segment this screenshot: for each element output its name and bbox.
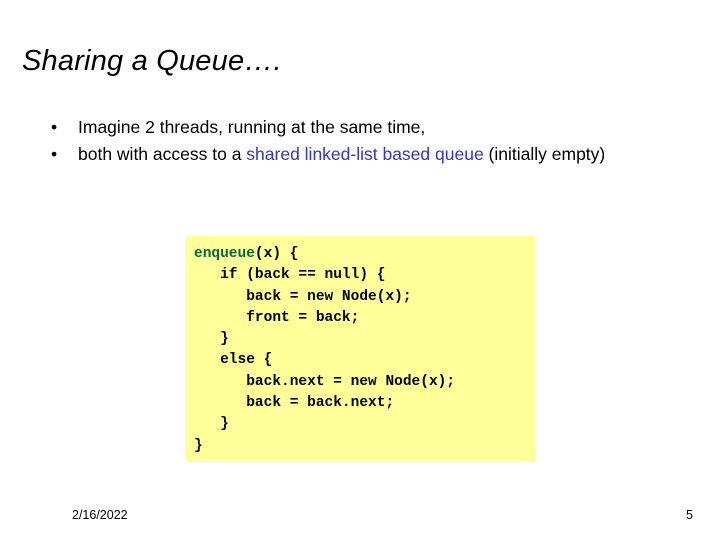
code-line: back = new Node(x); xyxy=(194,287,535,308)
code-indent xyxy=(194,331,220,347)
code-keyword: enqueue xyxy=(194,246,255,262)
bullet-point-icon: • xyxy=(48,141,78,168)
code-line: front = back; xyxy=(194,308,535,329)
code-indent xyxy=(194,416,220,432)
code-text: front = back; xyxy=(246,310,359,326)
bullet-item-label: Imagine 2 threads, running at the same t… xyxy=(78,114,698,141)
code-line: } xyxy=(194,414,535,435)
code-text: } xyxy=(220,416,229,432)
code-text: back.next = new Node(x); xyxy=(246,374,455,390)
footer-date: 2/16/2022 xyxy=(72,508,128,522)
footer-page-number: 5 xyxy=(686,508,693,522)
code-text: } xyxy=(220,331,229,347)
bullet-list: •Imagine 2 threads, running at the same … xyxy=(48,114,698,168)
code-line: enqueue(x) { xyxy=(194,244,535,265)
code-line: back = back.next; xyxy=(194,393,535,414)
code-indent xyxy=(194,374,246,390)
code-lines: enqueue(x) { if (back == null) { back = … xyxy=(194,244,535,457)
code-indent xyxy=(194,352,220,368)
code-indent xyxy=(194,395,246,411)
page-title: Sharing a Queue…. xyxy=(22,44,282,78)
code-line: } xyxy=(194,329,535,350)
plain-phrase: Imagine 2 threads, running at the same t… xyxy=(78,117,425,137)
code-text: else { xyxy=(220,352,272,368)
code-line: back.next = new Node(x); xyxy=(194,372,535,393)
bullet-item-label: both with access to a shared linked-list… xyxy=(78,141,698,168)
slide-canvas: Sharing a Queue…. •Imagine 2 threads, ru… xyxy=(0,0,720,540)
bullet-item: •Imagine 2 threads, running at the same … xyxy=(48,114,698,141)
plain-phrase: both with access to a xyxy=(78,144,246,164)
code-indent xyxy=(194,310,246,326)
code-line: } xyxy=(194,436,535,457)
code-indent xyxy=(194,289,246,305)
code-indent xyxy=(194,267,220,283)
bullet-point-icon: • xyxy=(48,114,78,141)
highlighted-phrase: shared linked-list based queue xyxy=(246,144,483,164)
code-line: else { xyxy=(194,350,535,371)
code-text: back = new Node(x); xyxy=(246,289,411,305)
plain-phrase: (initially empty) xyxy=(484,144,606,164)
code-line: if (back == null) { xyxy=(194,265,535,286)
code-text: if (back == null) { xyxy=(220,267,385,283)
code-block: enqueue(x) { if (back == null) { back = … xyxy=(186,236,535,462)
code-text: } xyxy=(194,438,203,454)
bullet-item: •both with access to a shared linked-lis… xyxy=(48,141,698,168)
code-text: back = back.next; xyxy=(246,395,394,411)
code-text: (x) { xyxy=(255,246,299,262)
